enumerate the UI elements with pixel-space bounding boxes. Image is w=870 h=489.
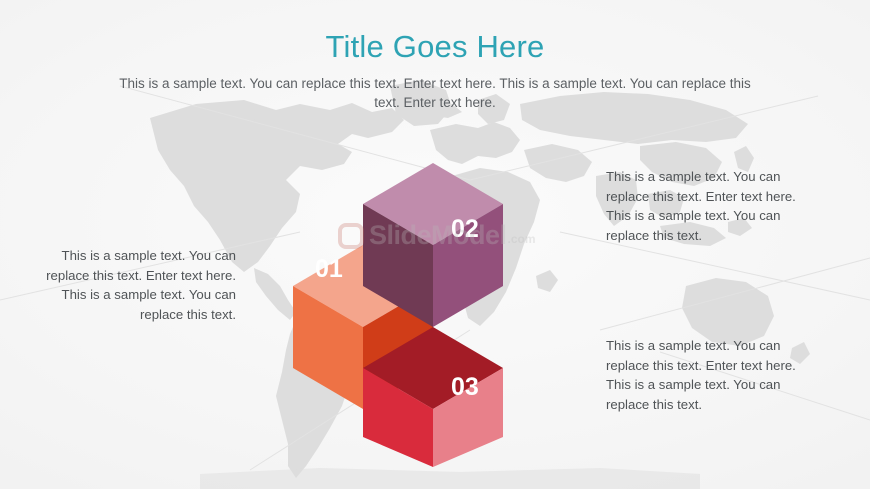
page-subtitle: This is a sample text. You can replace t… (105, 74, 765, 112)
title-block: Title Goes Here This is a sample text. Y… (0, 26, 870, 112)
isometric-cubes-diagram: 01 02 03 (253, 137, 593, 467)
description-text-03: This is a sample text. You can replace t… (606, 336, 802, 414)
description-text-02: This is a sample text. You can replace t… (606, 167, 802, 245)
cube-03-number: 03 (451, 373, 479, 401)
slide-canvas: Title Goes Here This is a sample text. Y… (0, 0, 870, 489)
page-title: Title Goes Here (0, 26, 870, 68)
cube-01-number: 01 (315, 255, 343, 283)
description-text-01: This is a sample text. You can replace t… (36, 246, 236, 324)
cube-02-number: 02 (451, 215, 479, 243)
